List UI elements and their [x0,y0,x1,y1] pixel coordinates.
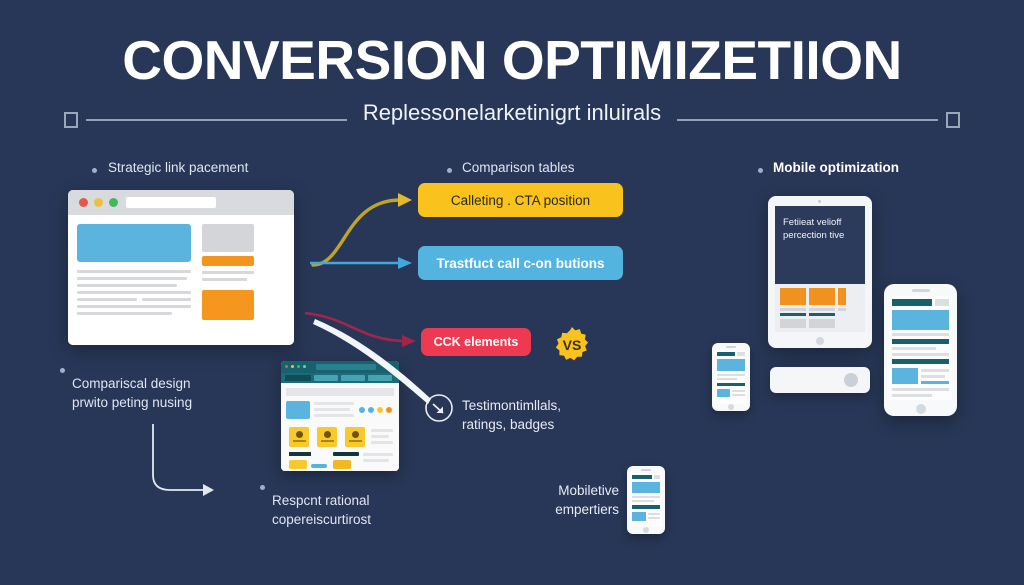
phone-bottom-screen [630,473,662,527]
phone-speaker-grille-icon [912,289,930,292]
testimonials-label: Testimontimllals, ratings, badges [462,396,561,434]
hero-banner-block [77,224,191,262]
mobile-experience-line-1: Mobiletive [523,481,619,500]
mobile-experience-label: Mobiletive empertiers [523,481,619,519]
browser-page-body [68,215,294,345]
phone-mockup-small[interactable] [712,343,750,411]
call-to-action-buttons-pill-label: Trastfuct call c-on butions [436,256,604,271]
sidebar-cta-block-secondary [202,290,254,320]
speaker-grille-icon [641,469,651,471]
dashboard-mockup[interactable] [281,361,399,471]
dashboard-tab-2[interactable] [314,375,338,381]
bar-device-knob-icon [844,373,858,387]
call-to-action-buttons-pill[interactable]: Trastfuct call c-on butions [418,246,623,280]
section-caption-middle: Comparison tables [462,160,575,175]
comparison-design-label: Compariscal design prwito peting nusing [72,374,192,412]
cta-position-pill-label: Calleting . CTA position [451,193,590,208]
dashboard-tab-4[interactable] [368,375,392,381]
phone-small-screen [715,350,747,404]
sidebar-cta-block [202,256,254,266]
tablet-mockup[interactable]: Fetiieat velioff percection tive [768,196,872,348]
curved-arrow-to-cta-position [313,193,412,265]
tablet-screen-text: Fetiieat velioff percection tive [783,216,863,242]
testimonials-line-2: ratings, badges [462,415,561,434]
dashboard-feature-card-3 [345,427,365,447]
browser-window-mockup[interactable] [68,190,294,345]
bullet-dot-comparison-design [60,368,65,373]
infographic-canvas: CONVERSION OPTIMIZETIION Replessonelarke… [0,0,1024,585]
page-subtitle-text: Replessonelarketinigrt inluirals [347,100,677,125]
bullet-dot-responsive [260,485,265,490]
phone-large-home-button-icon[interactable] [916,404,926,414]
minimize-dot-icon[interactable] [94,198,103,207]
home-button-icon[interactable] [643,527,649,533]
responsive-label: Respcnt rational copereiscurtirost [272,491,371,529]
dashboard-feature-card-1 [289,427,309,447]
dashboard-tab-3[interactable] [341,375,365,381]
section-caption-left: Strategic link pacement [108,160,248,175]
browser-titlebar [68,190,294,215]
comparison-design-line-2: prwito peting nusing [72,393,192,412]
page-subtitle: Replessonelarketinigrt inluirals [0,100,1024,126]
bullet-dot-right [758,168,763,173]
mobile-experience-line-2: empertiers [523,500,619,519]
tablet-lower-content [775,284,865,332]
tablet-home-button-icon[interactable] [816,337,824,345]
tablet-screen-line-1: Fetiieat velioff [783,216,863,229]
cck-elements-pill[interactable]: CCK elements [421,328,531,356]
curved-arrow-to-cck-elements [305,313,416,347]
elbow-arrow-down-right [153,424,214,496]
close-dot-icon[interactable] [79,198,88,207]
section-caption-right: Mobile optimization [773,160,899,175]
responsive-line-1: Respcnt rational [272,491,371,510]
comparison-design-line-1: Compariscal design [72,374,192,393]
dashboard-tabbar[interactable] [281,373,399,383]
phone-small-home-button-icon[interactable] [728,404,734,410]
wearable-bar-device-mockup[interactable] [770,367,870,393]
dashboard-feature-card-2 [317,427,337,447]
phone-mockup-bottom[interactable] [627,466,665,534]
cta-position-pill[interactable]: Calleting . CTA position [418,183,623,217]
bullet-dot-left [92,168,97,173]
front-camera-icon [818,200,821,203]
cck-elements-pill-label: CCK elements [434,335,519,349]
dashboard-search-field[interactable] [316,364,376,370]
dashboard-header [281,361,399,373]
vs-badge: VS [553,326,591,364]
phone-large-screen [889,296,952,400]
straight-arrow-to-call-buttons [310,257,412,269]
browser-url-bar[interactable] [126,197,216,208]
tablet-screen: Fetiieat velioff percection tive [775,206,865,332]
circle-arrow-icon [424,393,454,423]
dashboard-content [281,383,399,471]
phone-small-speaker-grille-icon [726,346,736,348]
page-title: CONVERSION OPTIMIZETIION [0,33,1024,88]
responsive-line-2: copereiscurtirost [272,510,371,529]
bullet-dot-middle [447,168,452,173]
dashboard-tab-1[interactable] [285,375,311,381]
phone-mockup-large[interactable] [884,284,957,416]
tablet-screen-line-2: percection tive [783,229,863,242]
vs-badge-label: VS [553,326,591,364]
maximize-dot-icon[interactable] [109,198,118,207]
testimonials-line-1: Testimontimllals, [462,396,561,415]
sidebar-gray-block [202,224,254,252]
